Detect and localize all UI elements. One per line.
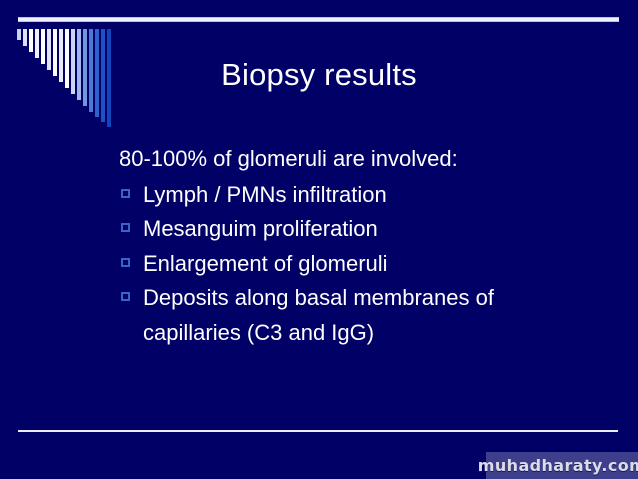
presentation-slide: Biopsy results 80-100% of glomeruli are … bbox=[0, 0, 638, 479]
list-item: Mesanguim proliferation bbox=[119, 212, 589, 247]
square-bullet-icon bbox=[121, 292, 130, 301]
square-bullet-icon bbox=[121, 223, 130, 232]
fan-bar bbox=[17, 29, 21, 40]
square-bullet-icon bbox=[121, 258, 130, 267]
list-item: Lymph / PMNs infiltration bbox=[119, 178, 589, 213]
list-item: Deposits along basal membranes of capill… bbox=[119, 281, 589, 350]
intro-line: 80-100% of glomeruli are involved: bbox=[119, 142, 589, 177]
fan-bar bbox=[35, 29, 39, 58]
fan-bar bbox=[23, 29, 27, 46]
page-title: Biopsy results bbox=[0, 56, 638, 94]
slide-body: 80-100% of glomeruli are involved: Lymph… bbox=[119, 142, 589, 350]
watermark-label: muhadharaty.com bbox=[478, 456, 638, 475]
list-item-label: Enlargement of glomeruli bbox=[143, 251, 388, 276]
list-item: Enlargement of glomeruli bbox=[119, 247, 589, 282]
list-item-label: Lymph / PMNs infiltration bbox=[143, 182, 387, 207]
list-item-label: Mesanguim proliferation bbox=[143, 216, 378, 241]
list-item-label: Deposits along basal membranes of capill… bbox=[143, 285, 494, 345]
square-bullet-icon bbox=[121, 189, 130, 198]
bullet-list: Lymph / PMNs infiltration Mesanguim prol… bbox=[119, 178, 589, 351]
watermark-badge: muhadharaty.com bbox=[486, 452, 638, 479]
bottom-divider-rule bbox=[18, 430, 618, 432]
top-divider-rule bbox=[18, 17, 619, 22]
fan-bar bbox=[29, 29, 33, 52]
